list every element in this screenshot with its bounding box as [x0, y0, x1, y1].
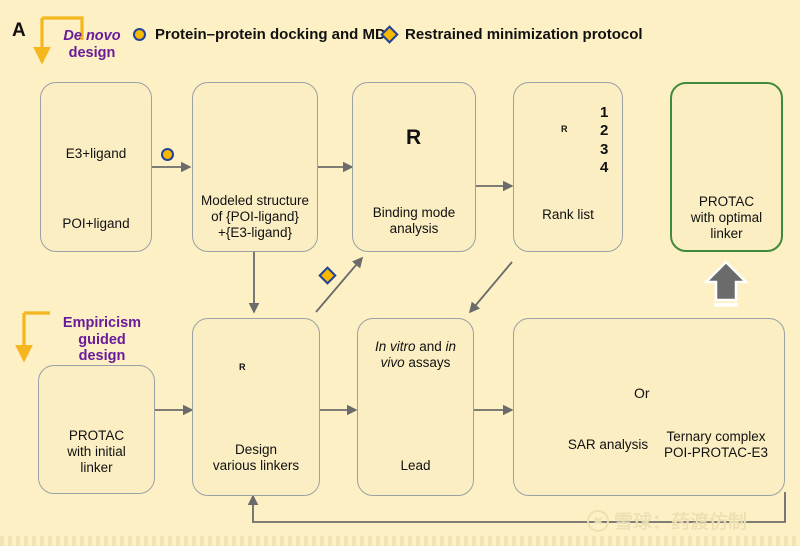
branch-title-empiricism: Empiricism guided design [48, 315, 156, 365]
bottom-hatch-border [0, 536, 800, 546]
modeled-line1: Modeled structure [201, 193, 309, 208]
legend-item-minimization: Restrained minimization protocol [383, 26, 643, 43]
ternary-line2: POI-PROTAC-E3 [664, 445, 768, 460]
node-sar-ternary[interactable]: SAR analysis Or Ternary complex POI-PROT… [513, 318, 785, 496]
branch-title-empiricism-line3: design [79, 348, 126, 364]
arrow-design-to-binding [316, 258, 362, 312]
panel-letter: A [12, 20, 26, 42]
legend-label-docking: Protein–protein docking and MD [155, 26, 386, 43]
arrow-rank-to-assays [470, 262, 512, 312]
assays-title-in: in [446, 339, 457, 354]
design-linker-r-label: R [239, 362, 246, 372]
design-line1: Design [235, 442, 277, 457]
optimal-line1: PROTAC [699, 194, 754, 209]
branch-title-de-novo-line2: design [69, 45, 116, 61]
rank-number-2: 2 [600, 122, 608, 139]
legend-label-minimization: Restrained minimization protocol [405, 26, 643, 43]
label-e3-ligand: E3+ligand [41, 146, 151, 162]
branch-title-empiricism-line2: guided [78, 332, 126, 348]
label-binding-mode: Binding mode analysis [353, 205, 475, 237]
initial-line1: PROTAC [69, 428, 124, 443]
modeled-line3: +{E3-ligand} [218, 225, 292, 240]
rank-number-1: 1 [600, 104, 608, 121]
rank-number-4: 4 [600, 159, 608, 176]
binding-residue-label: R [406, 126, 421, 150]
label-modeled-structure: Modeled structure of {POI-ligand} +{E3-l… [193, 193, 317, 241]
initial-line2: with initial [67, 444, 126, 459]
label-ternary-complex: Ternary complex POI-PROTAC-E3 [646, 429, 786, 461]
diamond-marker-icon [380, 25, 398, 43]
node-initial-protac[interactable]: PROTAC with initial linker [38, 365, 155, 494]
assays-title-vivo: vivo [381, 355, 405, 370]
rank-linker-r-label: R [561, 124, 568, 134]
assays-title-and: and [415, 339, 445, 354]
label-optimal-protac: PROTAC with optimal linker [672, 194, 781, 242]
assays-title-invitro: In vitro [375, 339, 416, 354]
watermark-logo-icon: ✖ [587, 510, 609, 532]
label-or: Or [634, 385, 650, 401]
design-line2: various linkers [213, 458, 299, 473]
circle-marker-icon-on-arrow [161, 148, 174, 161]
optimal-line2: with optimal [691, 210, 762, 225]
label-poi-ligand: POI+ligand [41, 216, 151, 232]
node-binding-mode-analysis[interactable]: Binding mode analysis [352, 82, 476, 252]
rank-number-3: 3 [600, 141, 608, 158]
label-lead: Lead [358, 458, 473, 474]
node-assays[interactable]: In vitro and in vivo assays Lead [357, 318, 474, 496]
branch-title-de-novo-line1: De novo [63, 28, 120, 44]
label-rank-list: Rank list [514, 207, 622, 223]
node-optimal-protac[interactable]: PROTAC with optimal linker [670, 82, 783, 252]
legend-item-docking: Protein–protein docking and MD [133, 26, 386, 43]
block-arrow-to-optimal [706, 262, 746, 307]
assays-title-assays: assays [405, 355, 451, 370]
modeled-line2: of {POI-ligand} [211, 209, 299, 224]
initial-line3: linker [80, 460, 112, 475]
ternary-line1: Ternary complex [666, 429, 765, 444]
node-modeled-structure[interactable]: Modeled structure of {POI-ligand} +{E3-l… [192, 82, 318, 252]
branch-title-empiricism-line1: Empiricism [63, 315, 141, 331]
label-initial-protac: PROTAC with initial linker [39, 428, 154, 476]
watermark-text: 雪球：药渡仿制 [614, 507, 747, 534]
node-e3-poi-ligand[interactable]: E3+ligand POI+ligand [40, 82, 152, 252]
optimal-line3: linker [710, 226, 742, 241]
empiricism-branch-arrow [24, 313, 50, 360]
branch-title-de-novo: De novo design [47, 28, 137, 61]
label-design-linkers: Design various linkers [193, 442, 319, 474]
watermark: ✖ 雪球：药渡仿制 [587, 507, 747, 534]
binding-line2: analysis [390, 221, 439, 236]
label-assays-title: In vitro and in vivo assays [358, 339, 473, 371]
node-design-linkers[interactable]: Design various linkers [192, 318, 320, 496]
watermark-logo-glyph: ✖ [593, 515, 603, 527]
binding-line1: Binding mode [373, 205, 456, 220]
